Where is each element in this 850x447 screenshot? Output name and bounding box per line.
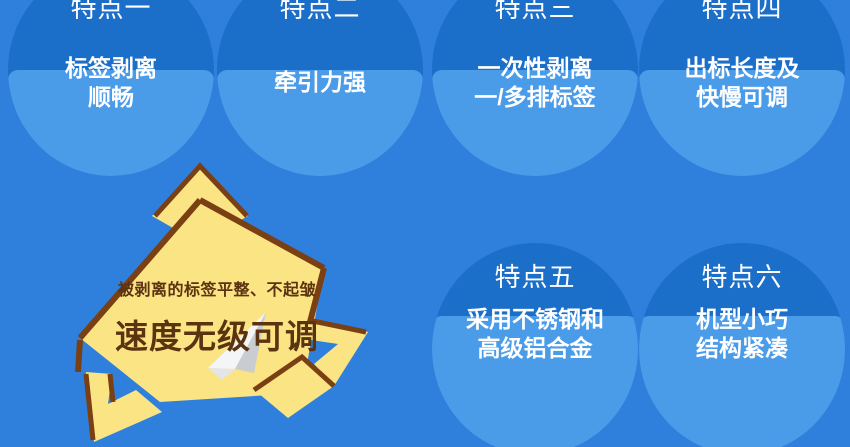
feature-line: 采用不锈钢和: [432, 305, 638, 334]
feature-caption-four: 特点四: [639, 0, 845, 25]
feature-line: 一/多排标签: [432, 83, 638, 112]
feature-caption-two: 特点二: [217, 0, 423, 25]
feature-line: 牵引力强: [217, 68, 423, 97]
badge-title: 速度无级可调: [52, 310, 398, 358]
feature-line: 出标长度及: [639, 54, 845, 83]
feature-line: 高级铝合金: [432, 334, 638, 363]
feature-caption-five: 特点五: [432, 257, 638, 294]
feature-line: 机型小巧: [639, 305, 845, 334]
feature-circle-four[interactable]: 特点四 出标长度及 快慢可调: [639, 0, 845, 176]
feature-circle-five[interactable]: 特点五 采用不锈钢和 高级铝合金: [432, 243, 638, 447]
feature-circle-three[interactable]: 特点三 一次性剥离 一/多排标签: [432, 0, 638, 176]
feature-caption-six: 特点六: [639, 257, 845, 294]
feature-caption-one: 特点一: [8, 0, 214, 25]
feature-caption-three: 特点三: [432, 0, 638, 25]
feature-line: 快慢可调: [639, 83, 845, 112]
feature-body-four: 出标长度及 快慢可调: [639, 54, 845, 113]
feature-body-one: 标签剥离 顺畅: [8, 54, 214, 113]
feature-circle-six[interactable]: 特点六 机型小巧 结构紧凑: [639, 243, 845, 447]
feature-line: 顺畅: [8, 83, 214, 112]
feature-line: 结构紧凑: [639, 334, 845, 363]
badge-subtitle: 被剥离的标签平整、不起皱: [52, 276, 392, 300]
feature-body-three: 一次性剥离 一/多排标签: [432, 54, 638, 113]
feature-body-two: 牵引力强: [217, 68, 423, 97]
feature-body-five: 采用不锈钢和 高级铝合金: [432, 305, 638, 364]
infographic-canvas: 特点一 标签剥离 顺畅 特点二 牵引力强 特点三 一次性剥离 一/多排标签 特点…: [0, 0, 850, 447]
feature-body-six: 机型小巧 结构紧凑: [639, 305, 845, 364]
feature-line: 一次性剥离: [432, 54, 638, 83]
feature-line: 标签剥离: [8, 54, 214, 83]
highlight-badge[interactable]: 被剥离的标签平整、不起皱 速度无级可调: [52, 150, 382, 447]
